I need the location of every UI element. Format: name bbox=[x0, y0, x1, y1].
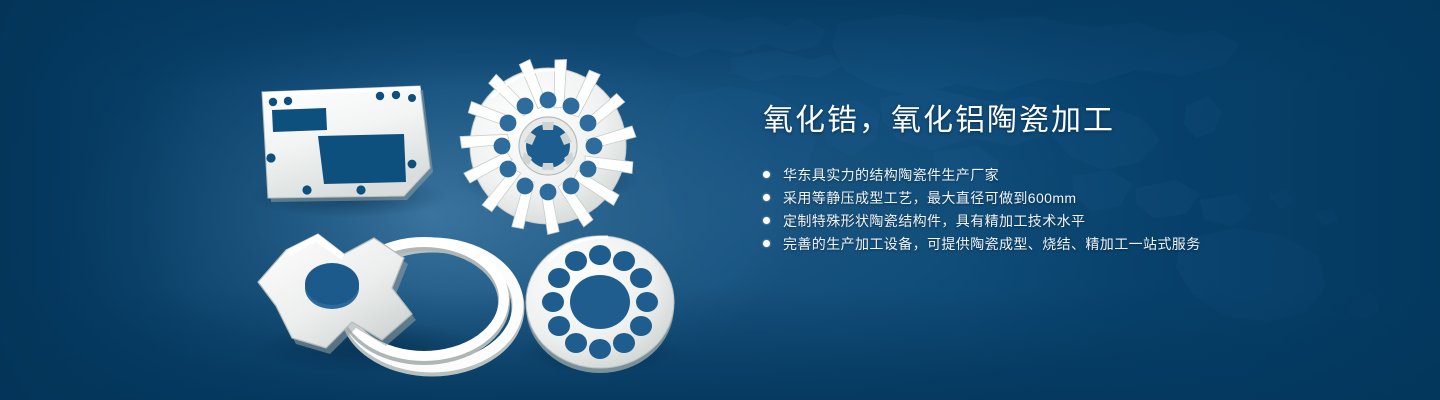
ceramic-impeller bbox=[458, 56, 637, 235]
feature-item: 定制特殊形状陶瓷结构件，具有精加工技术水平 bbox=[763, 209, 1383, 232]
bullet-dot-icon bbox=[763, 171, 770, 178]
banner-headline: 氧化锆，氧化铝陶瓷加工 bbox=[763, 104, 1383, 137]
feature-item: 华东具实力的结构陶瓷件生产厂家 bbox=[763, 163, 1383, 186]
bullet-dot-icon bbox=[763, 194, 770, 201]
feature-text: 华东具实力的结构陶瓷件生产厂家 bbox=[783, 165, 999, 185]
bullet-dot-icon bbox=[763, 217, 770, 224]
feature-text: 定制特殊形状陶瓷结构件，具有精加工技术水平 bbox=[783, 211, 1085, 231]
feature-item: 完善的生产加工设备，可提供陶瓷成型、烧结、精加工一站式服务 bbox=[763, 232, 1383, 255]
ceramic-products-image bbox=[0, 0, 760, 400]
bullet-dot-icon bbox=[763, 240, 770, 247]
feature-list: 华东具实力的结构陶瓷件生产厂家 采用等静压成型工艺，最大直径可做到600mm 定… bbox=[763, 163, 1383, 255]
feature-text: 采用等静压成型工艺，最大直径可做到600mm bbox=[783, 188, 1076, 208]
machined-ceramic-plate bbox=[262, 86, 433, 202]
feature-item: 采用等静压成型工艺，最大直径可做到600mm bbox=[763, 186, 1383, 209]
feature-text: 完善的生产加工设备，可提供陶瓷成型、烧结、精加工一站式服务 bbox=[783, 234, 1201, 254]
banner-text-column: 氧化锆，氧化铝陶瓷加工 华东具实力的结构陶瓷件生产厂家 采用等静压成型工艺，最大… bbox=[763, 104, 1383, 255]
promo-banner: 氧化锆，氧化铝陶瓷加工 华东具实力的结构陶瓷件生产厂家 采用等静压成型工艺，最大… bbox=[0, 0, 1440, 400]
perforated-ceramic-disc bbox=[526, 236, 674, 373]
